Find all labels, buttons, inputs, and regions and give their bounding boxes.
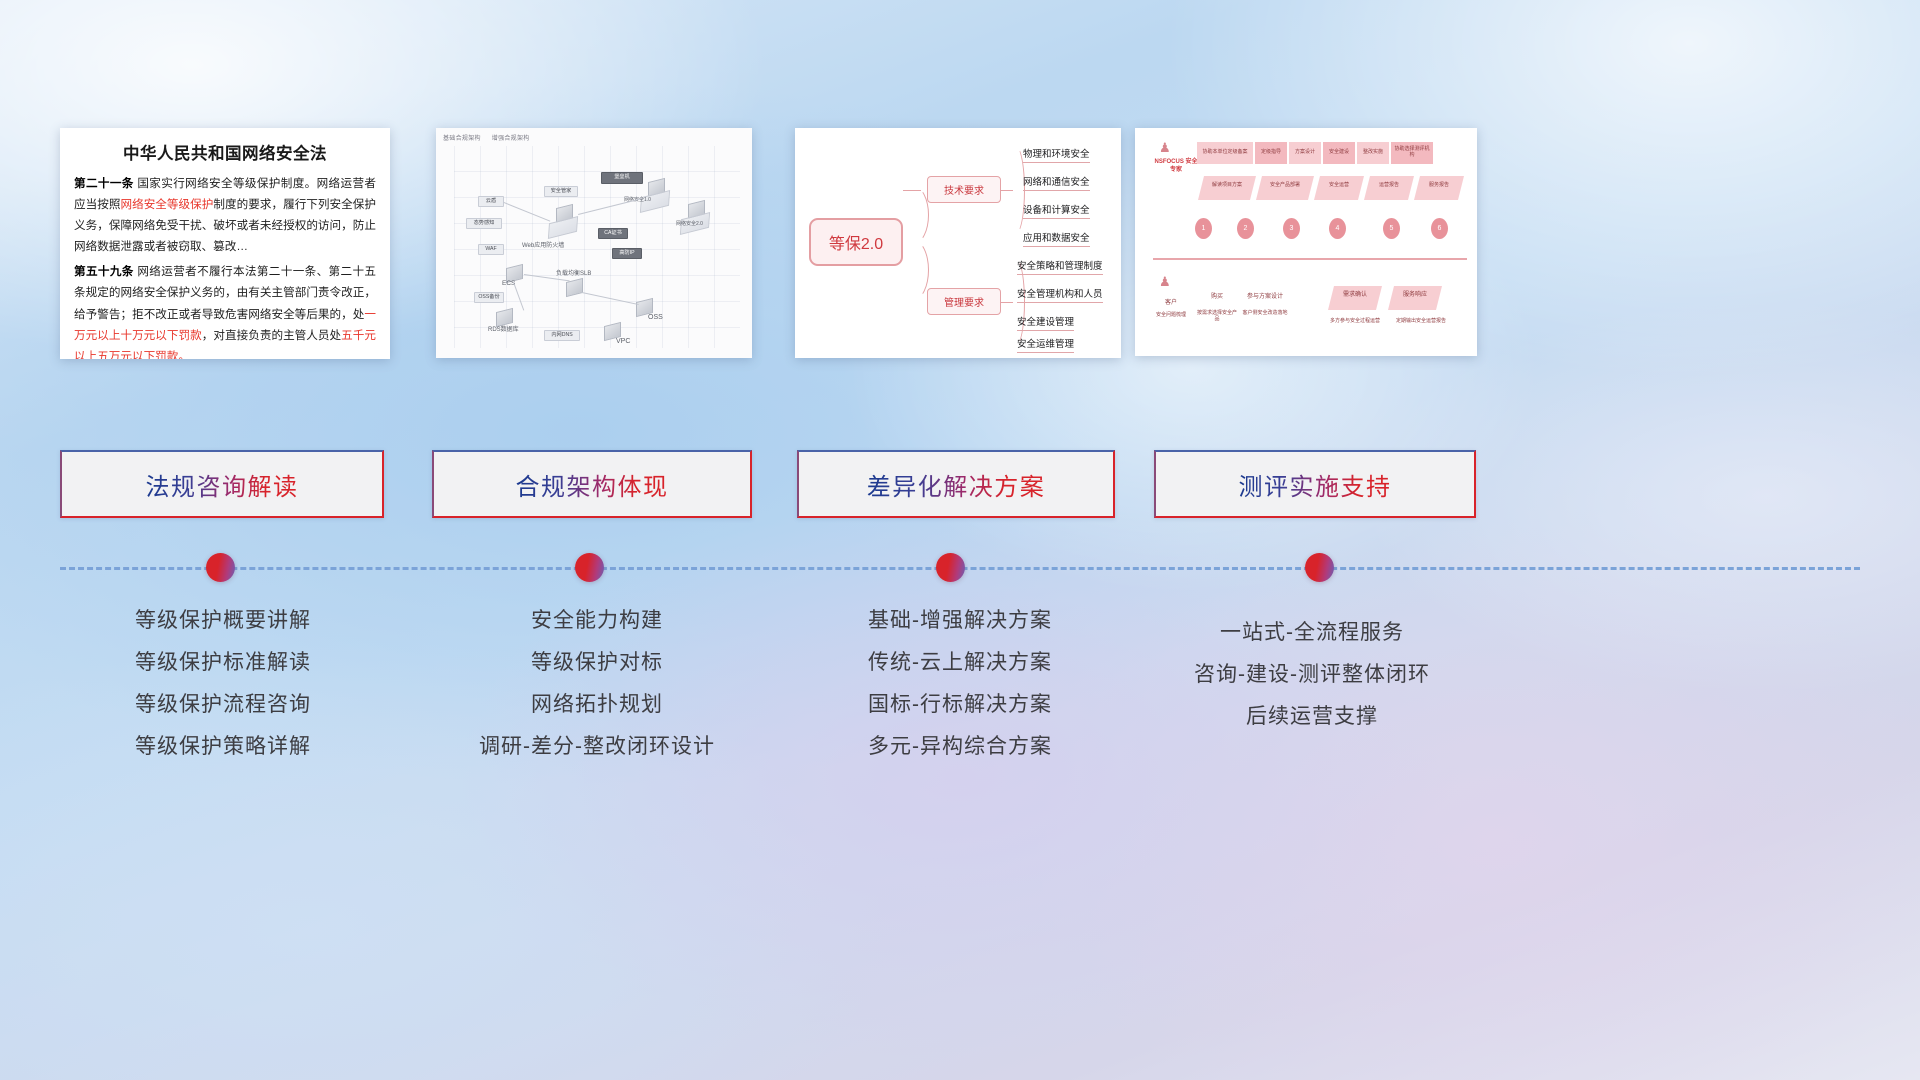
section-title-2: 合规架构体现 bbox=[516, 467, 669, 502]
ribbon-4: 整改实施 bbox=[1357, 142, 1389, 164]
ribbon-2: 方案设计 bbox=[1289, 142, 1321, 164]
arch-tab-enhanced: 增强合规架构 bbox=[492, 136, 530, 142]
expert-icon: ♟ bbox=[1159, 140, 1171, 156]
customer-subtext: 安全问题梳理 bbox=[1143, 312, 1199, 318]
section-title-3: 差异化解决方案 bbox=[867, 467, 1046, 502]
list-item: 等级保护对标 bbox=[432, 642, 762, 684]
ribbon-3: 安全建设 bbox=[1323, 142, 1355, 164]
section-title-4: 测评实施支持 bbox=[1239, 467, 1392, 502]
mindmap-leaf: 网络和通信安全 bbox=[1023, 174, 1090, 191]
list-item: 后续运营支撑 bbox=[1147, 696, 1477, 738]
arch-label-netsec-2: 网络安全2.0 bbox=[676, 220, 703, 227]
bottom-item-1: 参与方案设计 bbox=[1239, 294, 1291, 301]
law-article-59: 第五十九条 网络运营者不履行本法第二十一条、第二十五条规定的网络安全保护义务的，… bbox=[74, 261, 376, 359]
section-title-box-2[interactable]: 合规架构体现 bbox=[432, 450, 752, 518]
mindmap-leaf: 物理和环境安全 bbox=[1023, 146, 1090, 163]
step-marker-6: 6 bbox=[1431, 218, 1448, 239]
screenshot-card-service-timeline[interactable]: ♟ NSFOCUS 安全专家 协助本单位定级备案 定级指导 方案设计 安全建设 … bbox=[1135, 128, 1477, 356]
service-timeline-axis bbox=[1153, 258, 1467, 260]
step-marker-2: 2 bbox=[1237, 218, 1254, 239]
phase-label-0: 解读项目方案 bbox=[1201, 182, 1253, 188]
feature-list-4: 一站式-全流程服务 咨询-建设-测评整体闭环 后续运营支撑 bbox=[1147, 612, 1477, 738]
law-document-heading: 中华人民共和国网络安全法 bbox=[74, 140, 376, 164]
arch-node-db-audit: 内网DNS bbox=[544, 330, 580, 341]
list-item: 多元-异构综合方案 bbox=[795, 726, 1125, 768]
customer-icon: ♟ bbox=[1159, 274, 1171, 290]
bottom-note-2: 多方参与安全过程运营 bbox=[1321, 318, 1389, 324]
section-title-box-1[interactable]: 法规咨询解读 bbox=[60, 450, 384, 518]
arch-label-oss: OSS bbox=[648, 314, 663, 321]
phase-label-3: 运营报告 bbox=[1367, 182, 1411, 188]
arch-node-waf-small: WAF bbox=[478, 244, 504, 255]
arch-label-vpc: VPC bbox=[616, 338, 630, 345]
column-assessment-support: ♟ NSFOCUS 安全专家 协助本单位定级备案 定级指导 方案设计 安全建设 … bbox=[1155, 0, 1555, 1080]
mindmap-curve-tech bbox=[899, 186, 929, 244]
column-compliance-architecture: 基础合规架构 增强合规架构 堡垒机 云盾 安全管家 态势感知 网络安全1.0 网… bbox=[432, 0, 832, 1080]
phase-box-2 bbox=[1314, 176, 1364, 200]
bottom-item-3: 服务响应 bbox=[1391, 292, 1439, 299]
section-title-box-4[interactable]: 测评实施支持 bbox=[1154, 450, 1476, 518]
list-item: 网络拓扑规划 bbox=[432, 684, 762, 726]
list-item: 等级保护标准解读 bbox=[58, 642, 388, 684]
mindmap-leaf: 安全运维管理 bbox=[1017, 336, 1074, 353]
mindmap-root-node: 等保2.0 bbox=[809, 218, 903, 266]
column-legal-consulting: 中华人民共和国网络安全法 第二十一条 国家实行网络安全等级保护制度。网络运营者应… bbox=[60, 0, 460, 1080]
arch-label-rds: RDS数据库 bbox=[488, 324, 519, 333]
list-item: 传统-云上解决方案 bbox=[795, 642, 1125, 684]
mindmap-branch-management: 管理要求 bbox=[927, 288, 1001, 315]
nsfocus-brand-label: NSFOCUS 安全专家 bbox=[1153, 158, 1199, 175]
phase-box-3 bbox=[1364, 176, 1414, 200]
screenshot-card-architecture-diagram[interactable]: 基础合规架构 增强合规架构 堡垒机 云盾 安全管家 态势感知 网络安全1.0 网… bbox=[436, 128, 752, 358]
ribbon-0: 协助本单位定级备案 bbox=[1197, 142, 1253, 164]
phase-box-1 bbox=[1256, 176, 1314, 200]
bottom-note-0: 按需求选择安全产品 bbox=[1195, 310, 1239, 322]
arch-node-situational-awareness: 态势感知 bbox=[466, 218, 502, 229]
feature-list-3: 基础-增强解决方案 传统-云上解决方案 国标-行标解决方案 多元-异构综合方案 bbox=[795, 600, 1125, 768]
bottom-item-2: 需求确认 bbox=[1331, 292, 1379, 299]
phase-box-0 bbox=[1198, 176, 1256, 200]
section-title-box-3[interactable]: 差异化解决方案 bbox=[797, 450, 1115, 518]
mindmap-branch-technical: 技术要求 bbox=[927, 176, 1001, 203]
mindmap-leaf: 安全管理机构和人员 bbox=[1017, 286, 1103, 303]
customer-label: 客户 bbox=[1149, 300, 1193, 307]
mindmap-leaf: 安全建设管理 bbox=[1017, 314, 1074, 331]
list-item: 调研-差分-整改闭环设计 bbox=[432, 726, 762, 768]
screenshot-card-law-document[interactable]: 中华人民共和国网络安全法 第二十一条 国家实行网络安全等级保护制度。网络运营者应… bbox=[60, 128, 390, 359]
bottom-note-3: 定期输出安全运营报告 bbox=[1387, 318, 1455, 324]
list-item: 等级保护策略详解 bbox=[58, 726, 388, 768]
phase-box-4 bbox=[1414, 176, 1464, 200]
feature-list-2: 安全能力构建 等级保护对标 网络拓扑规划 调研-差分-整改闭环设计 bbox=[432, 600, 762, 768]
architecture-header-tabs: 基础合规架构 增强合规架构 bbox=[443, 133, 539, 142]
law-article-21: 第二十一条 国家实行网络安全等级保护制度。网络运营者应当按照网络安全等级保护制度… bbox=[74, 173, 376, 257]
arch-tab-basic: 基础合规架构 bbox=[443, 136, 481, 142]
mindmap-leaf: 安全策略和管理制度 bbox=[1017, 258, 1103, 275]
step-marker-4: 4 bbox=[1329, 218, 1346, 239]
arch-label-web-firewall: Web应用防火墙 bbox=[522, 240, 564, 249]
arch-node-anti-ddos: 高防IP bbox=[612, 248, 642, 259]
mindmap-leaf: 设备和计算安全 bbox=[1023, 202, 1090, 219]
list-item: 安全能力构建 bbox=[432, 600, 762, 642]
list-item: 国标-行标解决方案 bbox=[795, 684, 1125, 726]
arch-node-security-steward: 安全管家 bbox=[544, 186, 578, 197]
list-item: 等级保护流程咨询 bbox=[58, 684, 388, 726]
step-marker-3: 3 bbox=[1283, 218, 1300, 239]
bottom-item-0: 购买 bbox=[1199, 294, 1235, 301]
phase-label-1: 安全产品部署 bbox=[1259, 182, 1311, 188]
mindmap-curve-mgmt bbox=[899, 240, 929, 300]
step-marker-5: 5 bbox=[1383, 218, 1400, 239]
list-item: 基础-增强解决方案 bbox=[795, 600, 1125, 642]
list-item: 咨询-建设-测评整体闭环 bbox=[1147, 654, 1477, 696]
list-item: 等级保护概要讲解 bbox=[58, 600, 388, 642]
arch-node-ca-cert: CA证书 bbox=[598, 228, 628, 239]
mindmap-leaf: 应用和数据安全 bbox=[1023, 230, 1090, 247]
ribbon-1: 定级指导 bbox=[1255, 142, 1287, 164]
arch-label-slb: 负载均衡SLB bbox=[556, 268, 591, 277]
arch-node-bastion: 堡垒机 bbox=[601, 172, 643, 184]
ribbon-5: 协助选择测评机构 bbox=[1391, 142, 1433, 164]
phase-label-2: 安全运营 bbox=[1317, 182, 1361, 188]
screenshot-card-mind-map[interactable]: 等保2.0 技术要求 管理要求 物理和环境安全 网络和通信安全 设备和计算安全 … bbox=[795, 128, 1121, 358]
arch-node-cloudshield: 云盾 bbox=[478, 196, 504, 207]
step-marker-1: 1 bbox=[1195, 218, 1212, 239]
bottom-note-1: 客户侧安全改造落地 bbox=[1239, 310, 1291, 316]
section-title-1: 法规咨询解读 bbox=[146, 467, 299, 502]
phase-label-4: 服务报告 bbox=[1417, 182, 1461, 188]
list-item: 一站式-全流程服务 bbox=[1147, 612, 1477, 654]
arch-node-oss-backup: OSS备份 bbox=[474, 292, 504, 303]
feature-list-1: 等级保护概要讲解 等级保护标准解读 等级保护流程咨询 等级保护策略详解 bbox=[58, 600, 388, 768]
